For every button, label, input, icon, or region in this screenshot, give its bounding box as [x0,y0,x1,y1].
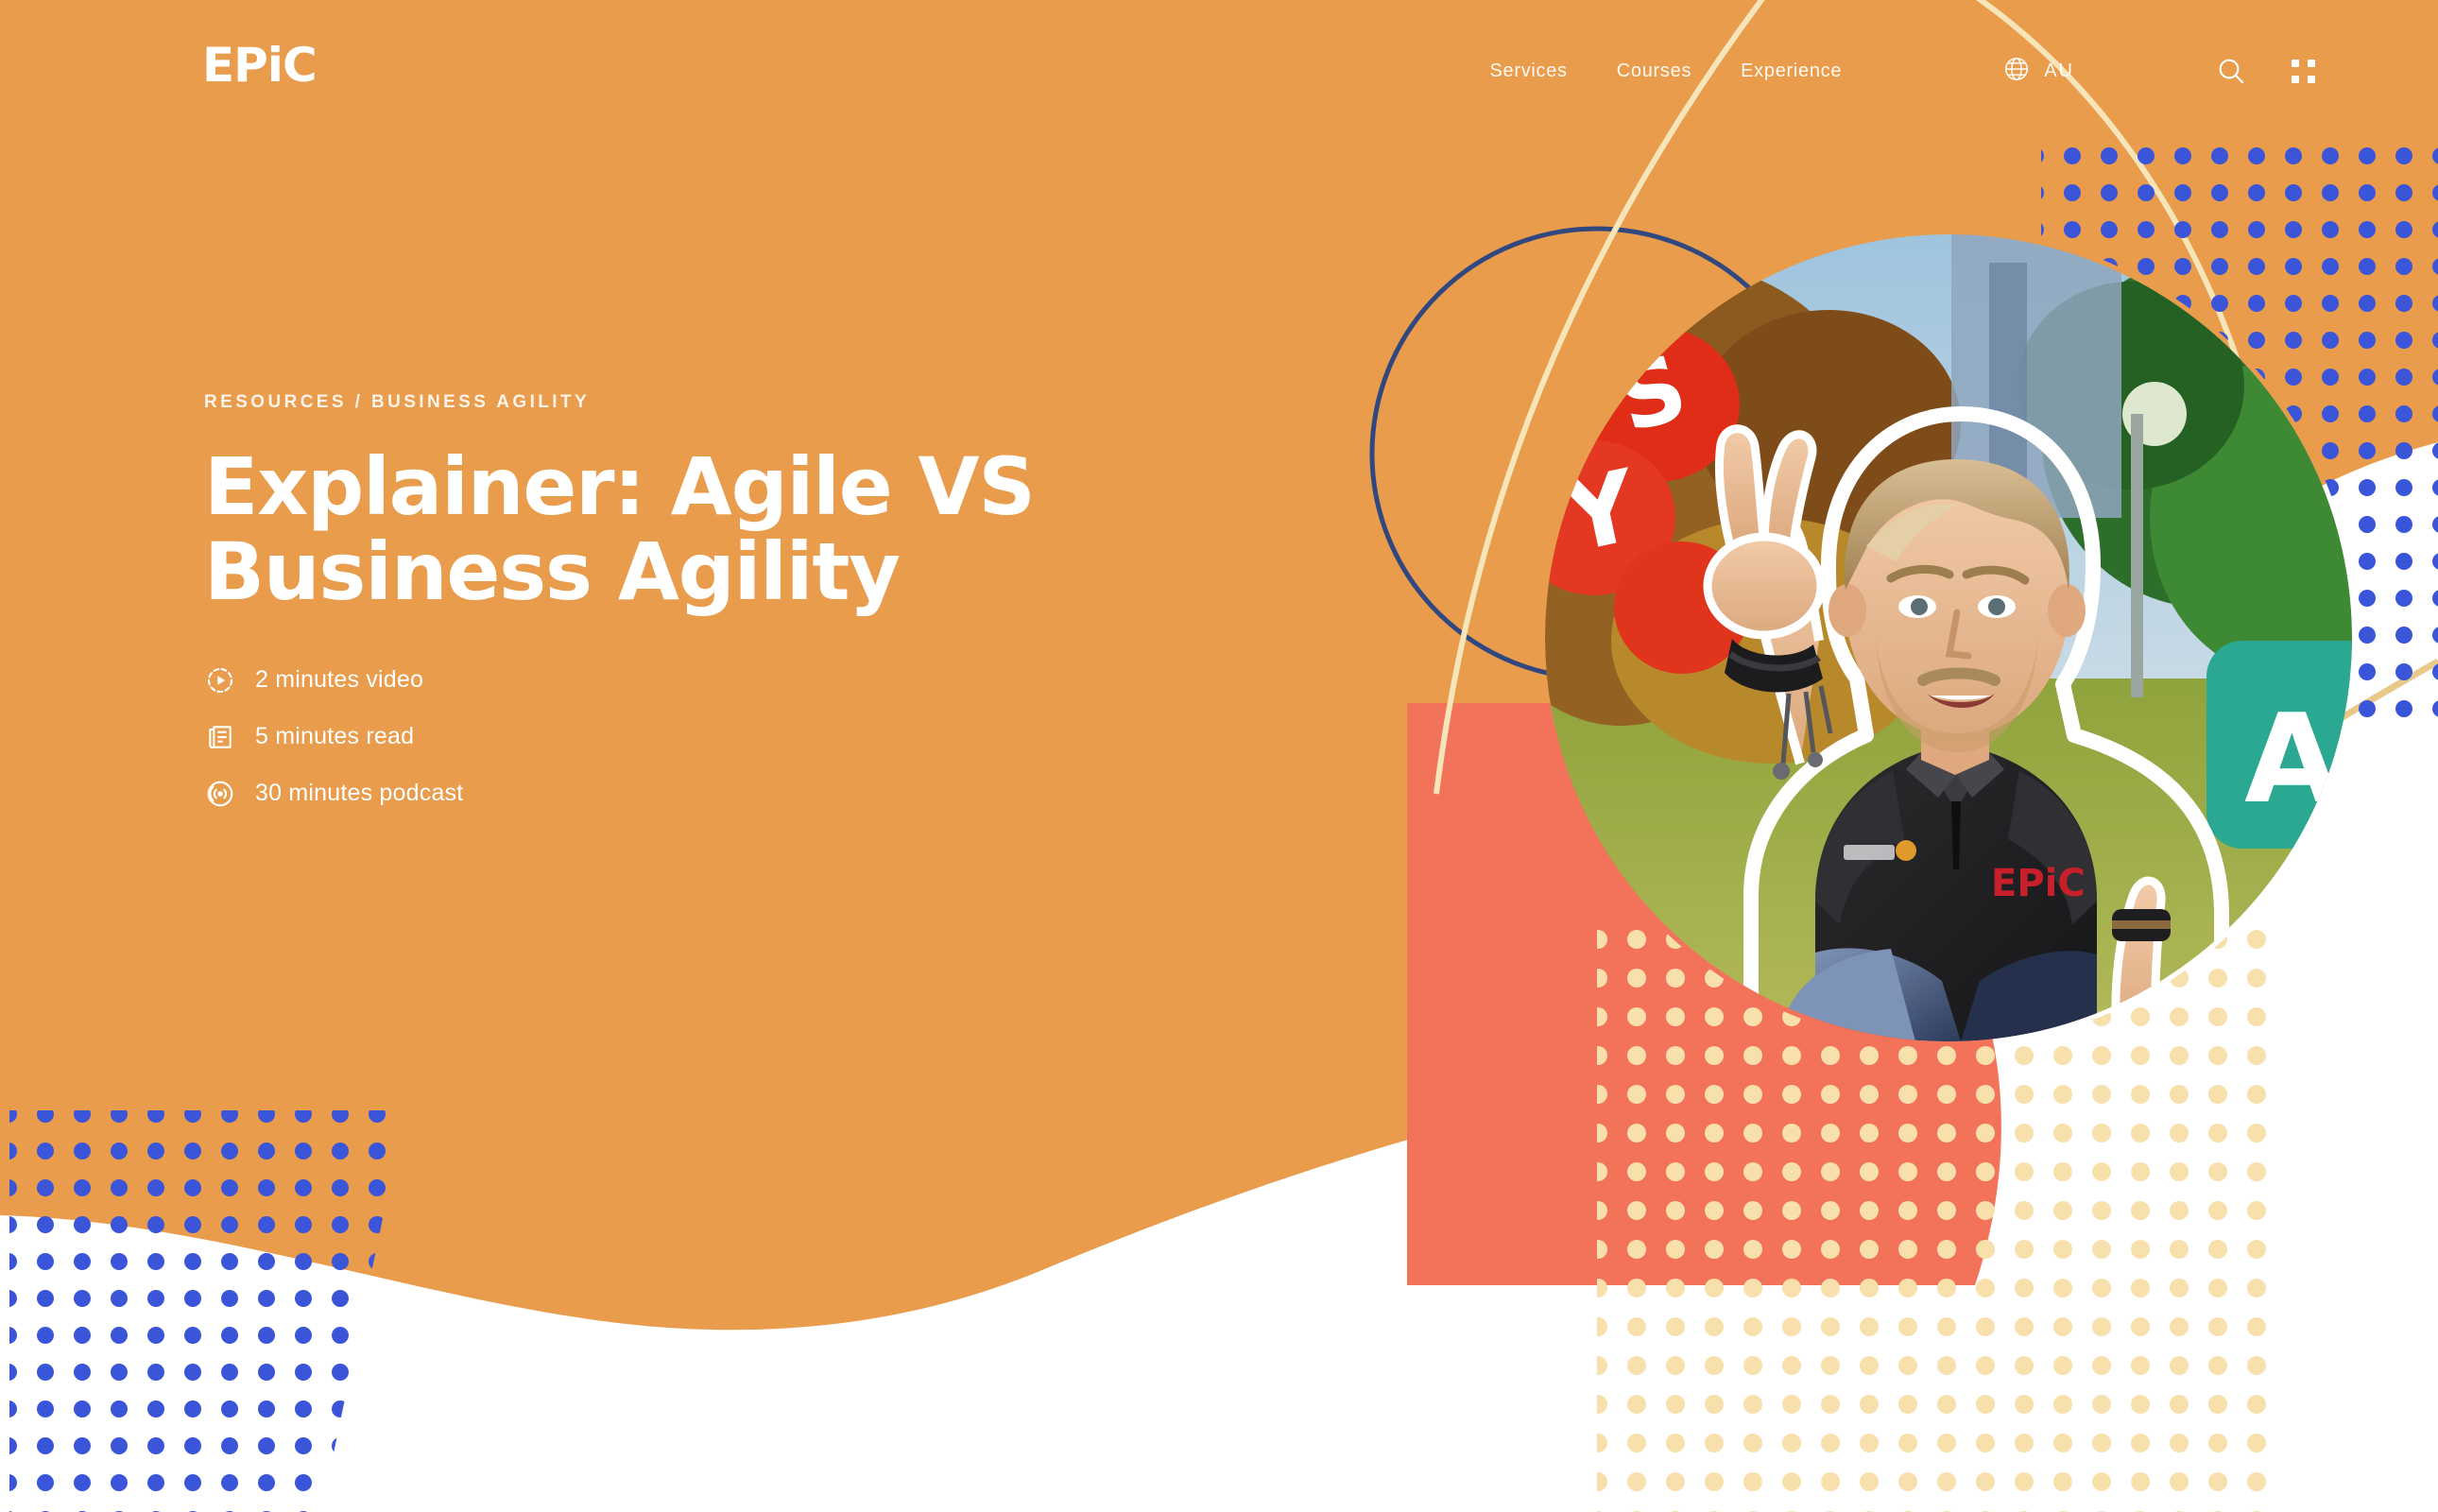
main-nav: Services Courses Experience AU [1489,0,2438,142]
format-list: 2 minutes video 5 minutes read [204,664,1262,810]
portrait-illustration: S Y A [1545,234,2352,1041]
format-item-label: 2 minutes video [255,666,423,694]
format-item-label: 30 minutes podcast [255,780,463,807]
newspaper-icon [204,721,236,753]
nav-item-services[interactable]: Services [1489,60,1567,82]
hero-content: RESOURCES / BUSINESS AGILITY Explainer: … [204,392,1262,810]
blue-dot-field-bottom-left [9,1110,416,1512]
search-icon[interactable] [2216,56,2246,86]
svg-text:EPiC: EPiC [1991,862,2086,905]
page-root: S Y A [0,0,2438,1512]
podcast-icon [204,778,236,810]
play-circle-icon [204,664,236,696]
grid-dots-icon[interactable] [2292,60,2315,83]
page-title-line-2: Business Agility [204,525,900,618]
shirt-epic-logo: EPiC [1991,862,2086,905]
site-header: EPiC Services Courses Experience AU [0,0,2438,142]
page-title-line-1: Explainer: Agile VS [204,440,1035,533]
nav-item-experience[interactable]: Experience [1741,60,1842,82]
locale-switcher[interactable]: AU [2002,55,2074,88]
nav-utilities: AU [2002,55,2315,88]
logo[interactable]: EPiC [202,42,317,89]
format-item-video[interactable]: 2 minutes video [204,664,1262,696]
format-item-podcast[interactable]: 30 minutes podcast [204,778,1262,810]
nav-item-courses[interactable]: Courses [1617,60,1691,82]
globe-icon [2002,55,2031,88]
grid-dots-glyph [2292,60,2315,83]
breadcrumb: RESOURCES / BUSINESS AGILITY [204,392,1262,413]
svg-text:A: A [2244,687,2340,831]
locale-label: AU [2044,60,2074,82]
format-item-label: 5 minutes read [255,723,414,750]
hero-portrait: S Y A [1545,234,2352,1041]
page-title: Explainer: Agile VS Business Agility [204,445,1262,615]
format-item-read[interactable]: 5 minutes read [204,721,1262,753]
